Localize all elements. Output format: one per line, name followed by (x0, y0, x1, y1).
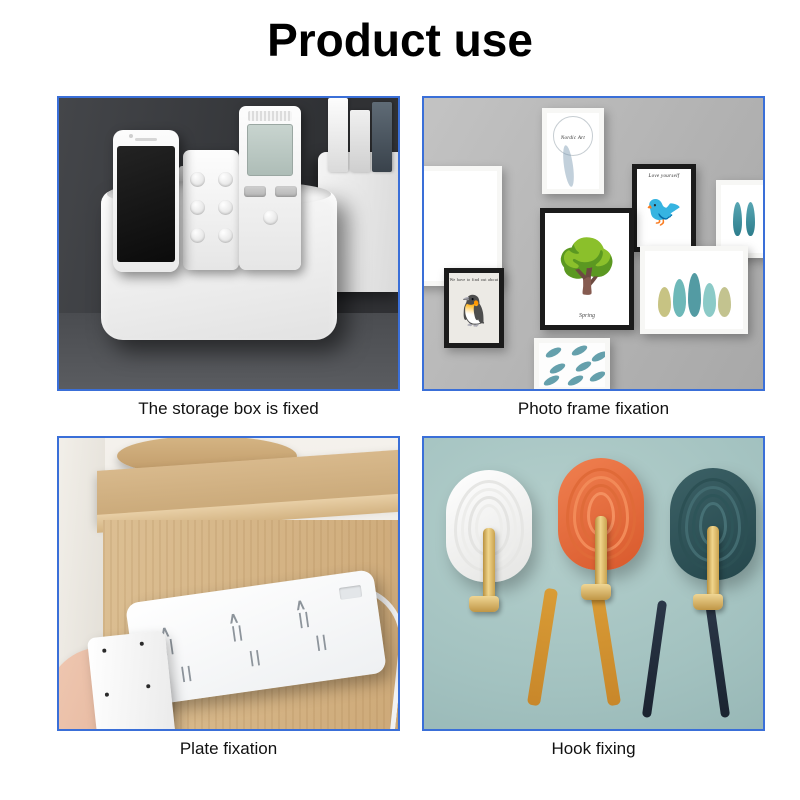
caption-hook-fixing: Hook fixing (422, 739, 765, 759)
tree-icon: 🌳 (555, 241, 620, 293)
white-hook (446, 470, 532, 582)
brass-hook-arm (595, 516, 607, 594)
adhesive-back-plate (87, 630, 177, 731)
frame-art-text: Spring (545, 313, 629, 319)
phone-speaker (135, 138, 157, 141)
frame-art-text: We have to find out about (449, 273, 499, 283)
phone-camera-icon (129, 134, 133, 138)
brass-hook-arm (707, 526, 719, 604)
panel-storage-box: The storage box is fixed (0, 96, 400, 436)
art-love-yourself: Love yourself 🐦 (637, 169, 691, 247)
remote-grille (248, 111, 292, 121)
frame-bird: We have to find out about 🐧 (444, 268, 504, 348)
orange-hook (558, 458, 644, 570)
art-leaves (645, 251, 743, 329)
product-use-infographic: Product use (0, 0, 800, 800)
panel-photo-frame: old beauty ❄ Nordic Art Love yourself (400, 96, 800, 436)
frame-love-yourself: Love yourself 🐦 (632, 164, 696, 252)
magazine (372, 102, 392, 172)
frame-leaves (640, 246, 748, 334)
art-tree: 🌳 Spring (545, 213, 629, 325)
frame-tree: 🌳 Spring (540, 208, 634, 330)
leaves-icon (645, 251, 743, 329)
bird-icon: 🐧 (455, 297, 492, 327)
panel-plate-fixation: ∧∣∣ ∧∣∣ ∧∣∣ ∣∣ ∣∣ ∣∣ Plate fixation (0, 436, 400, 776)
frame-nordic-art: Nordic Art (542, 108, 604, 194)
photo-storage-box (57, 96, 400, 391)
feather-pattern-icon (539, 343, 605, 387)
panel-hook-fixing: Hook fixing (400, 436, 800, 776)
feather-icon (733, 202, 755, 236)
remote-lcd-display (247, 124, 293, 176)
frame-art-text: old beauty (422, 177, 497, 187)
magazine (350, 110, 370, 172)
photo-frame-wall: old beauty ❄ Nordic Art Love yourself (422, 96, 765, 391)
smartphone (113, 130, 179, 272)
art-bird: We have to find out about 🐧 (449, 273, 499, 343)
art-snowflake: old beauty ❄ (422, 171, 497, 281)
caption-storage-box: The storage box is fixed (57, 399, 400, 419)
caption-photo-frame: Photo frame fixation (422, 399, 765, 419)
usb-ports (339, 585, 362, 600)
brass-hook-tip (469, 596, 499, 612)
frame-feather-pattern (534, 338, 610, 391)
art-feather-pair (721, 185, 765, 253)
bird-icon: 🐦 (645, 197, 682, 227)
snowflake-icon: ❄ (440, 208, 474, 248)
art-nordic: Nordic Art (547, 113, 599, 189)
magazine (328, 98, 348, 172)
brass-hook-tip (693, 594, 723, 610)
caption-plate-fixation: Plate fixation (57, 739, 400, 759)
fan-remote (183, 150, 239, 270)
bag-strap-navy (650, 600, 722, 718)
brass-hook-arm (483, 528, 495, 606)
frame-art-text: Nordic Art (547, 131, 599, 143)
brass-hook-tip (581, 584, 611, 600)
bag-strap-tan (536, 588, 612, 708)
teal-hook (670, 468, 756, 580)
art-feather-pattern (539, 343, 605, 387)
photo-hook-fixing (422, 436, 765, 731)
frame-art-text: Love yourself (637, 169, 691, 181)
phone-screen (117, 146, 175, 262)
air-conditioner-remote (239, 106, 301, 270)
panel-grid: The storage box is fixed old beauty ❄ N (0, 96, 800, 776)
page-title: Product use (0, 0, 800, 67)
photo-plate-fixation: ∧∣∣ ∧∣∣ ∧∣∣ ∣∣ ∣∣ ∣∣ (57, 436, 400, 731)
